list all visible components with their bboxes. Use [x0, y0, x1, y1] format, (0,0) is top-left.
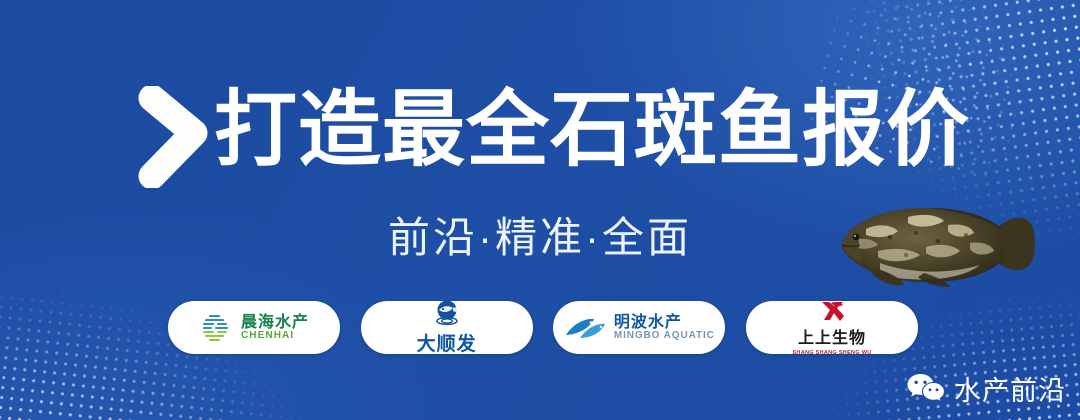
dashunfa-fish-circle-logo-icon — [432, 301, 462, 327]
sponsor-pill-dashunfa[interactable]: 大顺发 — [361, 301, 533, 354]
mingbo-fish-logo-icon — [564, 313, 608, 343]
grouper-fish-photo — [820, 185, 1040, 305]
sponsor-pill-chenhai[interactable]: 晨海水产 CHENHAI — [168, 301, 340, 354]
sponsor-name-cn: 大顺发 — [417, 329, 477, 354]
sponsor-pill-shangshang[interactable]: 上上生物 SHANG SHANG SHENG WU — [746, 301, 918, 354]
watermark-label: 水产前沿 — [954, 369, 1066, 408]
sponsor-name-chenhai: 晨海水产 CHENHAI — [241, 315, 309, 341]
sponsor-name-en: MINGBO AQUATIC — [614, 331, 715, 341]
sponsor-name-cn: 晨海水产 — [241, 315, 309, 331]
chenhai-circle-logo-icon — [199, 310, 235, 346]
banner-headline: 打造最全石斑鱼报价 — [214, 78, 954, 184]
sponsor-name-en: SHANG SHANG SHENG WU — [792, 350, 871, 355]
sponsor-name-mingbo: 明波水产 MINGBO AQUATIC — [614, 315, 715, 341]
wechat-watermark: 水产前沿 — [906, 369, 1066, 408]
shangshang-x-logo-icon — [817, 301, 847, 322]
sponsor-logo-row: 晨海水产 CHENHAI 大顺发 — [168, 301, 918, 354]
sponsor-name-cn: 上上生物 — [798, 324, 866, 348]
sponsor-name-cn: 明波水产 — [614, 315, 715, 331]
wechat-icon — [906, 372, 946, 406]
promo-banner: 打造最全石斑鱼报价 前沿·精准·全面 — [0, 0, 1080, 420]
chevron-right-icon — [138, 86, 210, 188]
sponsor-pill-mingbo[interactable]: 明波水产 MINGBO AQUATIC — [553, 301, 725, 354]
sponsor-name-en: CHENHAI — [241, 331, 309, 341]
